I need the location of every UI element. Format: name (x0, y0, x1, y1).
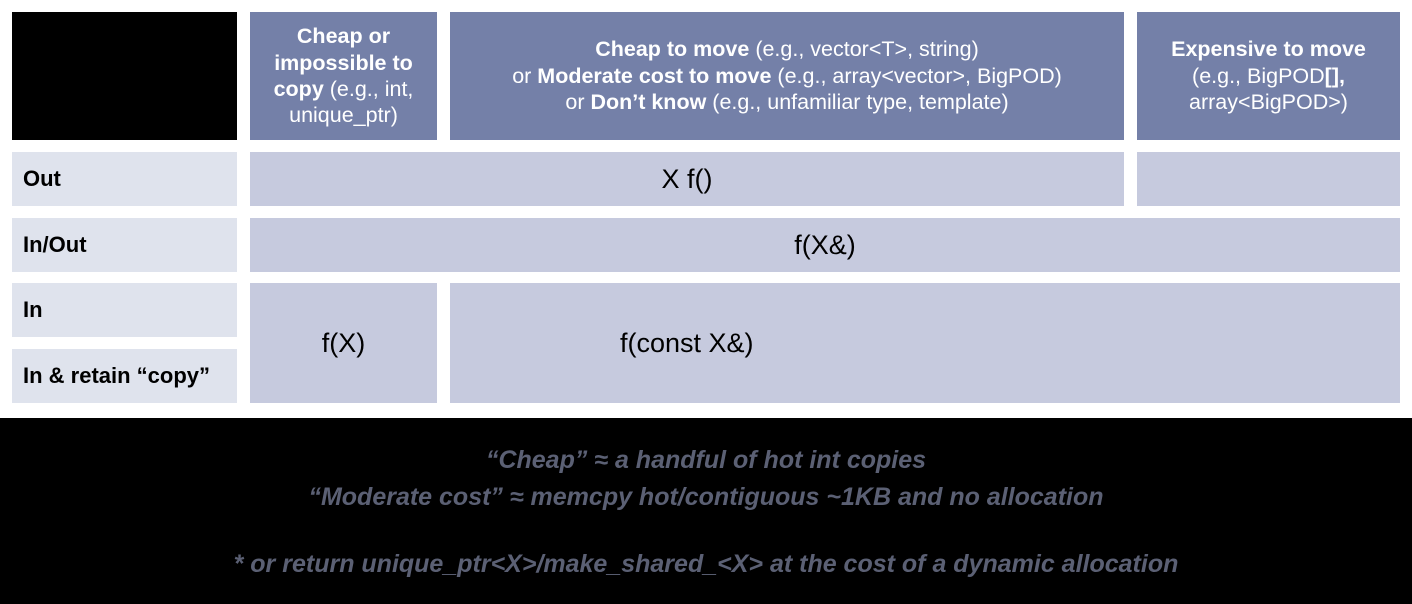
column-header-expensive-to-move: Expensive to move (e.g., BigPOD[], array… (1137, 12, 1400, 140)
header-line: or Don’t know (e.g., unfamiliar type, te… (565, 89, 1008, 115)
column-header-cheap-to-move: Cheap to move (e.g., vector<T>, string) … (450, 12, 1124, 140)
header-bold: Cheap or (297, 24, 390, 48)
column-header-cheap-or-impossible-to-copy: Cheap or impossible to copy (e.g., int, … (250, 12, 437, 140)
header-line: or Moderate cost to move (e.g., array<ve… (512, 63, 1062, 89)
header-line: impossible to (274, 50, 413, 76)
header-bold: Moderate cost to move (537, 64, 771, 88)
cell-text: f(X&) (794, 230, 856, 261)
header-line: Cheap to move (e.g., vector<T>, string) (595, 36, 979, 62)
header-line: array<BigPOD>) (1189, 89, 1348, 115)
header-line: Cheap or (297, 23, 390, 49)
footnote-return-unique-ptr: * or return unique_ptr<X>/make_shared_<X… (0, 550, 1412, 579)
header-plain: (e.g., int, (324, 77, 414, 101)
footnote-cheap-definition: “Cheap” ≈ a handful of hot int copies (0, 446, 1412, 475)
cell-in-f-const-x-ref: f(const X&) (450, 283, 1400, 403)
header-line: copy (e.g., int, (274, 76, 414, 102)
header-plain: (e.g., BigPOD (1192, 64, 1325, 88)
header-plain: (e.g., array<vector>, BigPOD) (771, 64, 1061, 88)
slide-canvas: Cheap or impossible to copy (e.g., int, … (0, 0, 1412, 604)
header-bold-tail: [], (1325, 64, 1345, 88)
header-prefix: or (512, 64, 537, 88)
header-bold: Expensive to move (1171, 37, 1366, 61)
row-label-text: In & retain “copy” (23, 363, 210, 389)
row-label-text: In (23, 297, 43, 323)
header-plain: (e.g., vector<T>, string) (749, 37, 978, 61)
header-prefix: or (565, 90, 590, 114)
header-bold: impossible to (274, 51, 413, 75)
header-bold: copy (274, 77, 324, 101)
row-label-in-out: In/Out (12, 218, 237, 272)
header-plain: (e.g., unfamiliar type, template) (706, 90, 1008, 114)
row-label-in: In (12, 283, 237, 337)
cell-in-f-x: f(X) (250, 283, 437, 403)
row-label-in-and-retain-copy: In & retain “copy” (12, 349, 237, 403)
header-line: unique_ptr) (289, 102, 398, 128)
footnote-moderate-cost-definition: “Moderate cost” ≈ memcpy hot/contiguous … (0, 483, 1412, 512)
cell-out-expensive-to-move (1137, 152, 1400, 206)
cell-text: X f() (662, 164, 713, 195)
table-corner-cell (12, 12, 237, 140)
cell-text: f(X) (322, 328, 366, 359)
row-label-out: Out (12, 152, 237, 206)
header-plain: array<BigPOD>) (1189, 90, 1348, 114)
header-line: (e.g., BigPOD[], (1192, 63, 1345, 89)
row-label-text: Out (23, 166, 61, 192)
header-line: Expensive to move (1171, 36, 1366, 62)
header-bold: Cheap to move (595, 37, 749, 61)
row-label-text: In/Out (23, 232, 87, 258)
header-bold: Don’t know (590, 90, 706, 114)
cell-out-x-f: X f() (250, 152, 1124, 206)
cell-in-out-f-x-ref: f(X&) (250, 218, 1400, 272)
header-plain: unique_ptr) (289, 103, 398, 127)
cell-text: f(const X&) (620, 328, 754, 359)
